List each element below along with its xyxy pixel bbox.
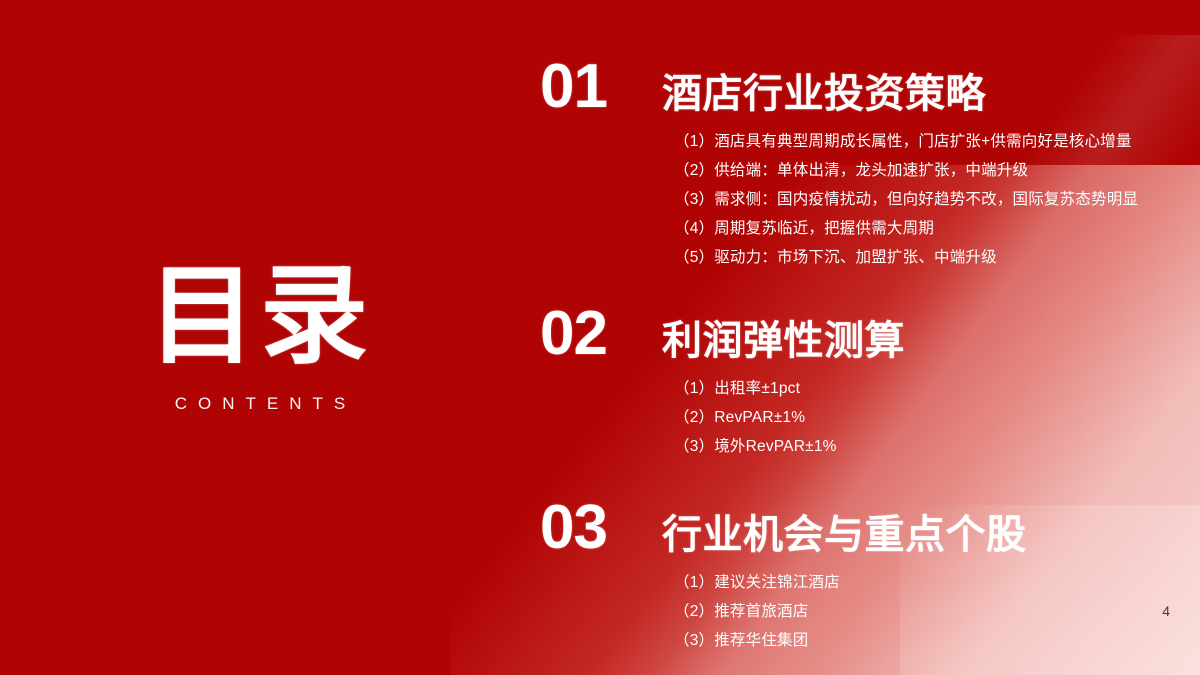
list-item-label: 驱动力：市场下沉、加盟扩张、中端升级 (714, 249, 997, 266)
list-item[interactable]: （3）推荐华住集团 (674, 626, 1180, 655)
list-item-marker: （1） (674, 374, 714, 403)
list-item-marker: （3） (674, 626, 714, 655)
list-item[interactable]: （2）RevPAR±1% (674, 403, 1180, 432)
list-item[interactable]: （5）驱动力：市场下沉、加盟扩张、中端升级 (674, 243, 1180, 272)
list-item-label: 周期复苏临近，把握供需大周期 (714, 220, 934, 237)
contents-title-block: 目录 CONTENTS (0, 262, 520, 414)
section-02-number: 02 (540, 303, 662, 365)
list-item-marker: （3） (674, 185, 714, 214)
section-01-title[interactable]: 酒店行业投资策略 (662, 72, 986, 117)
contents-section-list: 01 酒店行业投资策略 （1）酒店具有典型周期成长属性，门店扩张+供需向好是核心… (540, 56, 1180, 655)
page-number: 4 (1162, 603, 1170, 619)
section-01-header: 01 酒店行业投资策略 (540, 56, 1180, 118)
section-02-title[interactable]: 利润弹性测算 (662, 319, 905, 364)
list-item[interactable]: （4）周期复苏临近，把握供需大周期 (674, 214, 1180, 243)
list-item-label: 出租率±1pct (714, 380, 800, 397)
list-item-label: 需求侧：国内疫情扰动，但向好趋势不改，国际复苏态势明显 (714, 191, 1138, 208)
list-item-marker: （1） (674, 568, 714, 597)
section-02-header: 02 利润弹性测算 (540, 303, 1180, 365)
contents-section-03[interactable]: 03 行业机会与重点个股 （1）建议关注锦江酒店 （2）推荐首旅酒店 （3）推荐… (540, 497, 1180, 655)
slide-contents-page: 目录 CONTENTS 01 酒店行业投资策略 （1）酒店具有典型周期成长属性，… (0, 0, 1200, 675)
list-item-label: 推荐首旅酒店 (714, 603, 808, 620)
section-03-header: 03 行业机会与重点个股 (540, 497, 1180, 559)
section-03-number: 03 (540, 497, 662, 559)
contents-section-02[interactable]: 02 利润弹性测算 （1）出租率±1pct （2）RevPAR±1% （3）境外… (540, 303, 1180, 461)
list-item[interactable]: （3）境外RevPAR±1% (674, 432, 1180, 461)
section-01-items: （1）酒店具有典型周期成长属性，门店扩张+供需向好是核心增量 （2）供给端：单体… (674, 127, 1180, 272)
list-item-label: 建议关注锦江酒店 (714, 574, 840, 591)
list-item-label: 供给端：单体出清，龙头加速扩张，中端升级 (714, 162, 1028, 179)
list-item-label: 推荐华住集团 (714, 632, 808, 649)
section-03-title[interactable]: 行业机会与重点个股 (662, 513, 1027, 558)
section-02-items: （1）出租率±1pct （2）RevPAR±1% （3）境外RevPAR±1% (674, 374, 1180, 461)
list-item-label: 境外RevPAR±1% (714, 438, 836, 455)
list-item[interactable]: （1）酒店具有典型周期成长属性，门店扩张+供需向好是核心增量 (674, 127, 1180, 156)
list-item[interactable]: （1）建议关注锦江酒店 (674, 568, 1180, 597)
list-item-marker: （4） (674, 214, 714, 243)
section-01-number: 01 (540, 56, 662, 118)
list-item-marker: （3） (674, 432, 714, 461)
page-title-chinese: 目录 (0, 262, 520, 370)
list-item-marker: （2） (674, 156, 714, 185)
list-item[interactable]: （1）出租率±1pct (674, 374, 1180, 403)
list-item-marker: （2） (674, 403, 714, 432)
section-03-items: （1）建议关注锦江酒店 （2）推荐首旅酒店 （3）推荐华住集团 (674, 568, 1180, 655)
list-item-label: RevPAR±1% (714, 409, 805, 426)
page-title-english: CONTENTS (0, 394, 520, 414)
list-item[interactable]: （2）供给端：单体出清，龙头加速扩张，中端升级 (674, 156, 1180, 185)
list-item-marker: （5） (674, 243, 714, 272)
list-item[interactable]: （3）需求侧：国内疫情扰动，但向好趋势不改，国际复苏态势明显 (674, 185, 1180, 214)
list-item[interactable]: （2）推荐首旅酒店 (674, 597, 1180, 626)
list-item-marker: （1） (674, 127, 714, 156)
list-item-marker: （2） (674, 597, 714, 626)
contents-section-01[interactable]: 01 酒店行业投资策略 （1）酒店具有典型周期成长属性，门店扩张+供需向好是核心… (540, 56, 1180, 272)
list-item-label: 酒店具有典型周期成长属性，门店扩张+供需向好是核心增量 (714, 133, 1131, 150)
